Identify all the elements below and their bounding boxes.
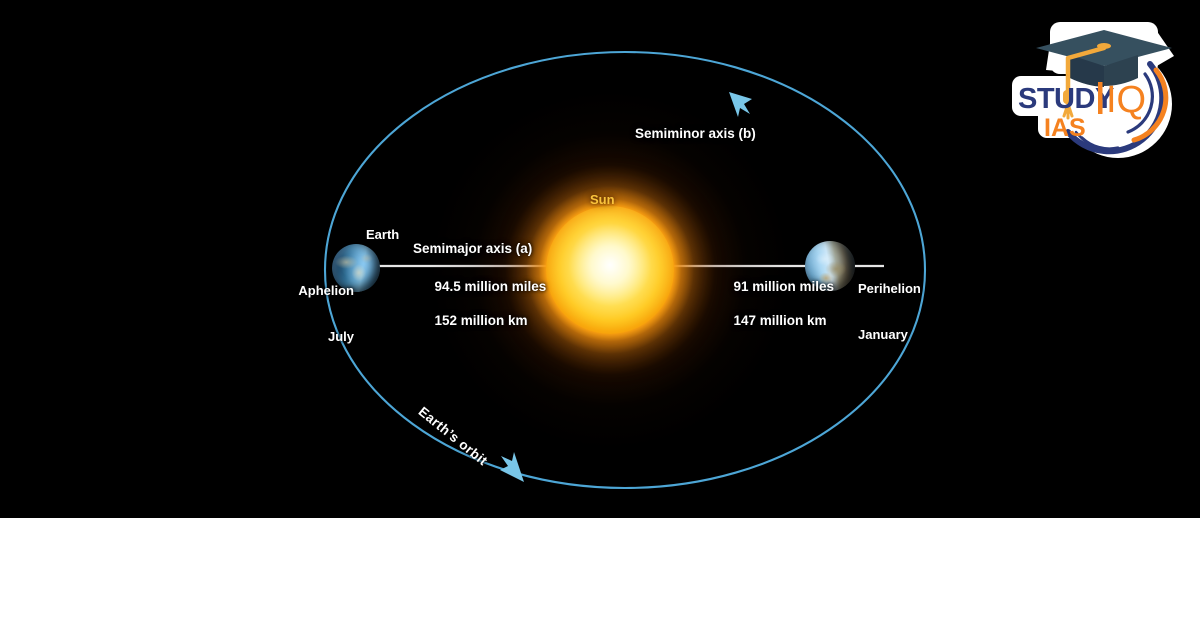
orbit-arrow-bottom [500, 452, 524, 482]
studyiq-ias-logo[interactable]: STUDY IQ IAS [1006, 8, 1186, 166]
logo-word-ias: IAS [1044, 114, 1086, 142]
diagram-panel: Aphelion July Perihelion January Earth S… [0, 0, 1200, 518]
caption-bar: EARTH’S ORBIT [0, 518, 1200, 628]
page-root: Aphelion July Perihelion January Earth S… [0, 0, 1200, 628]
logo-word-iq: IQ [1106, 79, 1146, 121]
orbit-arrow-top [729, 92, 752, 117]
logo-divider [1098, 82, 1103, 114]
